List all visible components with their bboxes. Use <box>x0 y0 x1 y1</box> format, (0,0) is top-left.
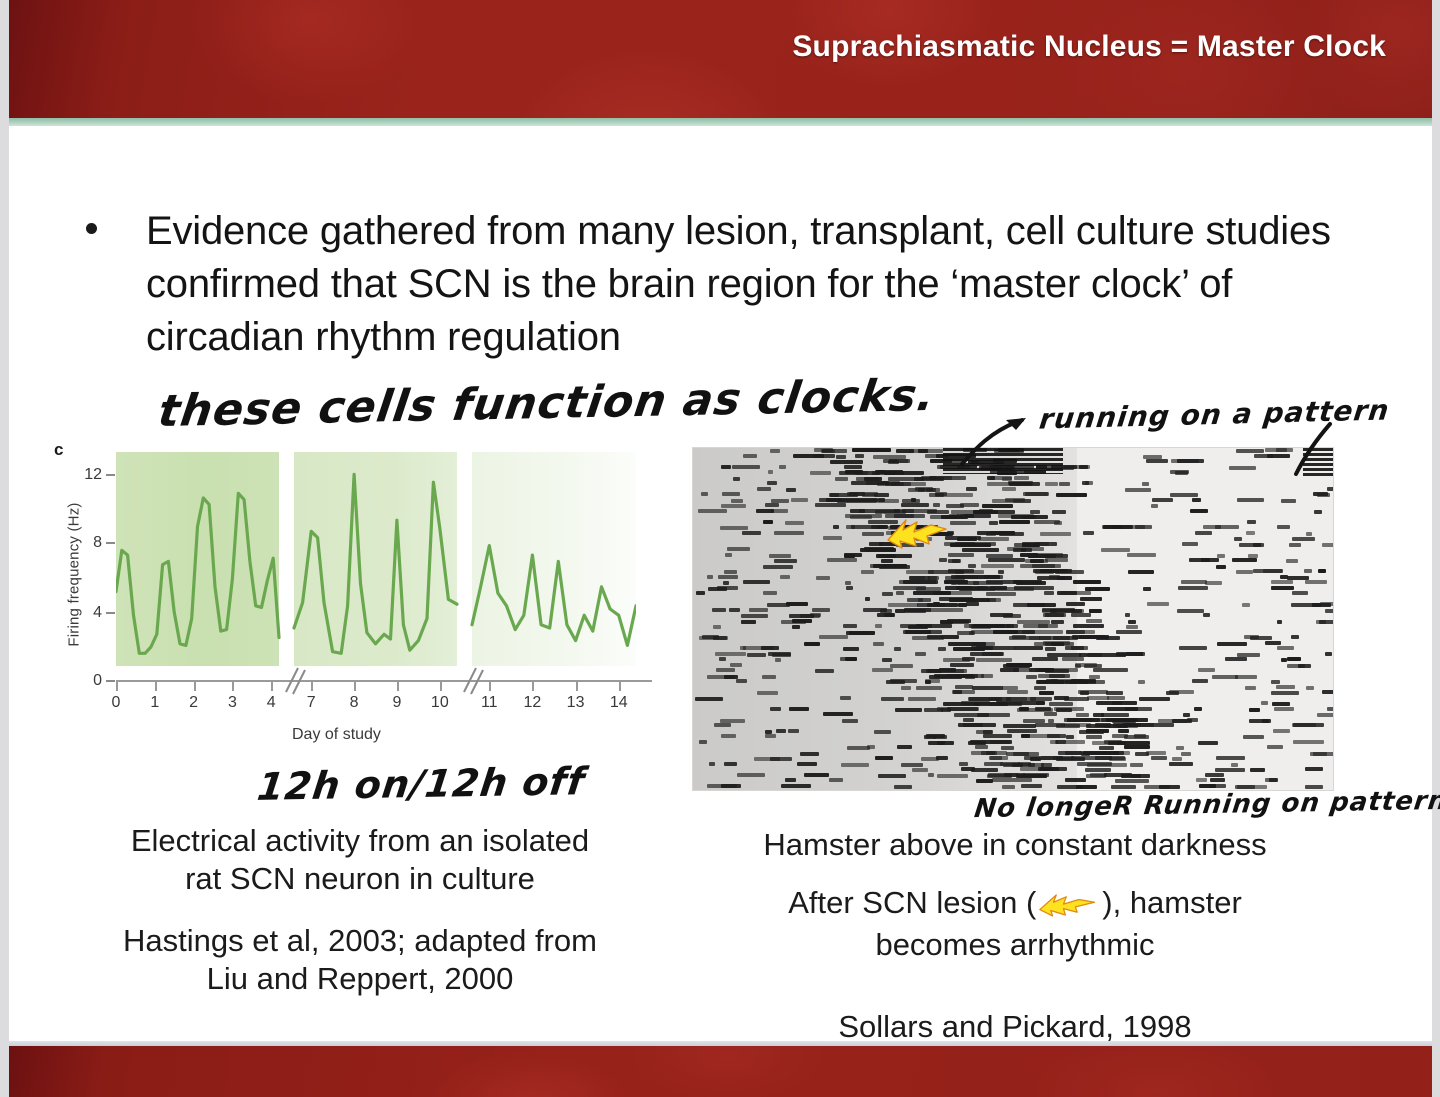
actogram-activity-mark <box>875 624 882 628</box>
actogram-activity-mark <box>1318 569 1326 573</box>
actogram-activity-mark <box>1292 537 1315 541</box>
actogram-row <box>693 762 1333 767</box>
header-divider <box>9 118 1432 126</box>
actogram-row <box>693 751 1333 756</box>
actogram-activity-mark <box>958 723 996 727</box>
actogram-activity-mark <box>779 465 786 469</box>
actogram-activity-mark <box>1021 734 1030 738</box>
x-tick-label-7: 7 <box>299 694 323 712</box>
actogram-activity-mark <box>869 542 883 546</box>
actogram-activity-mark <box>724 762 737 766</box>
actogram-activity-mark <box>1042 554 1050 558</box>
actogram-activity-mark <box>947 619 971 623</box>
actogram-activity-mark <box>1064 465 1090 469</box>
actogram-activity-mark <box>1071 613 1091 617</box>
bullet-list: Evidence gathered from many lesion, tran… <box>86 205 1366 364</box>
actogram-activity-mark <box>1261 701 1268 705</box>
actogram-activity-mark <box>948 569 974 573</box>
actogram-activity-mark <box>958 603 967 607</box>
actogram-activity-mark <box>1045 669 1069 673</box>
actogram-activity-mark <box>908 697 936 701</box>
actogram-activity-mark <box>1032 564 1061 568</box>
actogram-activity-mark <box>1235 785 1255 789</box>
slide-header: Suprachiasmatic Nucleus = Master Clock <box>9 0 1432 118</box>
actogram-row <box>693 613 1333 618</box>
actogram-activity-mark <box>1322 690 1334 694</box>
actogram-activity-mark <box>981 564 1014 568</box>
x-tick-label-2: 2 <box>182 694 206 712</box>
actogram-activity-mark <box>695 697 723 701</box>
x-tick-mark-11 <box>489 682 491 691</box>
actogram-activity-mark <box>1273 729 1290 733</box>
actogram-activity-mark <box>954 713 989 717</box>
actogram-activity-mark <box>1024 756 1052 760</box>
actogram-activity-mark <box>1317 713 1334 717</box>
actogram-activity-mark <box>948 559 960 563</box>
actogram-activity-mark <box>902 499 920 503</box>
actogram-activity-mark <box>992 778 1032 782</box>
actogram-activity-mark <box>927 635 942 639</box>
actogram-activity-mark <box>1310 752 1334 756</box>
actogram-activity-mark <box>1172 757 1182 761</box>
actogram-activity-mark <box>1209 784 1226 788</box>
x-tick-mark-12 <box>532 682 534 691</box>
actogram-row <box>693 635 1333 640</box>
actogram-activity-mark <box>1099 746 1114 750</box>
actogram-activity-mark <box>1237 498 1264 502</box>
actogram-activity-mark <box>1047 653 1081 657</box>
actogram-activity-mark <box>1111 785 1136 789</box>
actogram-activity-mark <box>1045 482 1058 486</box>
actogram-activity-mark <box>1146 459 1168 463</box>
actogram-activity-mark <box>819 635 848 639</box>
page-edge-left <box>0 0 9 1097</box>
actogram-activity-mark <box>1023 719 1045 723</box>
actogram-activity-mark <box>1000 762 1020 766</box>
actogram-row <box>693 685 1333 690</box>
actogram-activity-mark <box>1006 624 1018 628</box>
actogram-activity-mark <box>872 668 893 672</box>
actogram-activity-mark <box>770 449 780 453</box>
actogram-activity-mark <box>968 564 976 568</box>
actogram-activity-mark <box>829 778 843 782</box>
chart-plot-area <box>116 452 636 680</box>
actogram-activity-mark <box>929 493 944 497</box>
actogram-activity-mark <box>1236 449 1264 453</box>
actogram-activity-mark <box>1085 587 1110 591</box>
actogram-activity-mark <box>813 454 835 458</box>
actogram-activity-mark <box>890 664 913 668</box>
actogram-activity-mark <box>941 635 959 639</box>
actogram-activity-mark <box>865 597 870 601</box>
bullet-dot-icon <box>86 223 97 234</box>
actogram-activity-mark <box>720 719 745 723</box>
actogram-activity-mark <box>897 745 912 749</box>
actogram-activity-mark <box>1040 532 1071 536</box>
actogram-activity-mark <box>1293 740 1324 744</box>
actogram-activity-mark <box>1234 537 1242 541</box>
actogram-activity-mark <box>1030 559 1044 563</box>
actogram-activity-mark <box>984 575 1000 579</box>
actogram-activity-mark <box>707 675 735 679</box>
actogram-activity-mark <box>1281 499 1296 503</box>
actogram-activity-mark <box>1281 658 1287 662</box>
actogram-activity-mark <box>971 768 998 772</box>
actogram-activity-mark <box>907 598 931 602</box>
actogram-activity-mark <box>1231 763 1238 767</box>
actogram-activity-mark <box>901 503 929 507</box>
actogram-activity-mark <box>1151 504 1158 508</box>
actogram-row <box>693 767 1333 772</box>
actogram-activity-mark <box>1181 752 1191 756</box>
actogram-row <box>693 531 1333 536</box>
actogram-row <box>693 525 1333 530</box>
actogram-activity-mark <box>1210 778 1225 782</box>
actogram-activity-mark <box>1018 762 1031 766</box>
actogram-activity-mark <box>933 602 940 606</box>
actogram-activity-mark <box>815 669 834 673</box>
actogram-activity-mark <box>1047 734 1066 738</box>
actogram-activity-mark <box>1305 580 1327 584</box>
actogram-activity-mark <box>780 575 790 579</box>
actogram-activity-mark <box>905 630 931 634</box>
actogram-activity-mark <box>1057 591 1077 595</box>
actogram-activity-mark <box>882 592 893 596</box>
actogram-activity-mark <box>855 471 868 475</box>
actogram-activity-mark <box>878 554 896 558</box>
actogram-activity-mark <box>955 685 973 689</box>
actogram-activity-mark <box>792 625 800 629</box>
actogram-activity-mark <box>789 707 809 711</box>
actogram-activity-mark <box>714 723 731 727</box>
actogram-activity-mark <box>1014 646 1043 650</box>
actogram-activity-mark <box>1033 569 1072 573</box>
actogram-activity-mark <box>821 449 835 453</box>
actogram-row <box>693 778 1333 783</box>
right-caption-arrhythmic: becomes arrhythmic Sollars and Pickard, … <box>690 968 1340 1046</box>
actogram-activity-mark <box>1076 713 1089 717</box>
actogram-activity-mark <box>851 525 878 529</box>
actogram-activity-mark <box>976 658 1012 662</box>
actogram-activity-mark <box>1249 708 1260 712</box>
actogram-activity-mark <box>1325 609 1334 613</box>
actogram-activity-mark <box>1263 569 1282 573</box>
x-tick-label-10: 10 <box>428 694 452 712</box>
actogram-activity-mark <box>1077 762 1112 766</box>
actogram-activity-mark <box>1066 630 1085 634</box>
actogram-row <box>693 740 1333 745</box>
actogram-activity-mark <box>1125 488 1151 492</box>
x-tick-label-1: 1 <box>143 694 167 712</box>
actogram-activity-mark <box>1286 559 1298 563</box>
actogram-activity-mark <box>916 686 942 690</box>
x-tick-label-4: 4 <box>259 694 283 712</box>
actogram-activity-mark <box>716 668 735 672</box>
actogram-row <box>693 536 1333 541</box>
actogram-activity-mark <box>1196 778 1207 782</box>
actogram-activity-mark <box>1244 635 1259 639</box>
actogram-activity-mark <box>1065 680 1096 684</box>
handwriting-running-on-pattern: running on a pattern <box>1038 393 1392 435</box>
actogram-row <box>693 718 1333 723</box>
actogram-activity-mark <box>1177 609 1204 613</box>
x-tick-mark-1 <box>155 682 157 691</box>
actogram-activity-mark <box>1023 773 1049 777</box>
actogram-activity-mark <box>1293 723 1324 727</box>
actogram-activity-mark <box>845 581 851 585</box>
actogram-row <box>693 657 1333 662</box>
actogram-activity-mark <box>1192 679 1208 683</box>
actogram-activity-mark <box>937 774 968 778</box>
actogram-activity-mark <box>747 653 766 657</box>
chart-series-lines <box>116 452 636 680</box>
actogram-activity-mark <box>1312 603 1331 607</box>
actogram-row <box>693 630 1333 635</box>
actogram-activity-mark <box>1143 455 1162 459</box>
actogram-activity-mark <box>986 554 1013 558</box>
actogram-activity-mark <box>1038 624 1048 628</box>
actogram-activity-mark <box>874 493 889 497</box>
actogram-activity-mark <box>1102 525 1116 529</box>
actogram-row <box>693 564 1333 569</box>
actogram-activity-mark <box>723 581 729 585</box>
actogram-activity-mark <box>1317 493 1330 497</box>
actogram-activity-mark <box>1087 696 1109 700</box>
actogram-activity-mark <box>1007 690 1028 694</box>
actogram-activity-mark <box>1039 636 1070 640</box>
actogram-activity-mark <box>743 454 757 458</box>
actogram-activity-mark <box>731 499 743 503</box>
actogram-activity-mark <box>1126 625 1138 629</box>
actogram-activity-mark <box>1082 481 1089 485</box>
y-tick-label-12: 12 <box>60 466 102 484</box>
actogram-activity-mark <box>990 740 1010 744</box>
actogram-activity-mark <box>921 476 936 480</box>
actogram-activity-mark <box>1083 531 1094 535</box>
actogram-activity-mark <box>915 652 926 656</box>
right-caption-lesion-after: ), hamster <box>1102 885 1242 920</box>
actogram-activity-mark <box>1006 752 1029 756</box>
actogram-activity-mark <box>948 553 974 557</box>
actogram-activity-mark <box>1215 768 1245 772</box>
actogram-activity-mark <box>743 580 770 584</box>
actogram-row <box>693 575 1333 580</box>
actogram-activity-mark <box>1142 482 1149 486</box>
actogram-activity-mark <box>1128 570 1154 574</box>
actogram-activity-mark <box>895 708 922 712</box>
actogram-activity-mark <box>928 773 934 777</box>
actogram-row <box>693 492 1333 497</box>
actogram-activity-mark <box>701 492 708 496</box>
actogram-activity-mark <box>961 767 975 771</box>
actogram-activity-mark <box>1249 719 1271 723</box>
actogram-activity-mark <box>962 657 975 661</box>
right-caption-lesion-before: After SCN lesion ( <box>788 885 1036 920</box>
actogram-activity-mark <box>893 586 926 590</box>
actogram-activity-mark <box>709 762 715 766</box>
actogram-activity-mark <box>770 707 781 711</box>
x-tick-mark-13 <box>576 682 578 691</box>
actogram-activity-mark <box>836 455 846 459</box>
actogram-activity-mark <box>1001 746 1014 750</box>
actogram-activity-mark <box>881 559 893 563</box>
actogram-activity-mark <box>1034 520 1060 524</box>
actogram-activity-mark <box>1013 580 1042 584</box>
actogram-activity-mark <box>1316 620 1326 624</box>
actogram-activity-mark <box>722 492 740 496</box>
actogram-activity-mark <box>797 762 817 766</box>
actogram-activity-mark <box>957 631 974 635</box>
actogram-activity-mark <box>769 554 791 558</box>
actogram-activity-mark <box>1171 459 1199 463</box>
slide: Suprachiasmatic Nucleus = Master Clock E… <box>0 0 1440 1097</box>
actogram-activity-mark <box>894 647 901 651</box>
actogram-activity-mark <box>1101 548 1130 552</box>
actogram-activity-mark <box>823 712 853 716</box>
actogram-row <box>693 619 1333 624</box>
actogram-activity-mark <box>1026 675 1037 679</box>
actogram-activity-mark <box>937 741 945 745</box>
actogram-activity-mark <box>730 663 742 667</box>
actogram-activity-mark <box>1066 602 1085 606</box>
actogram-row <box>693 558 1333 563</box>
actogram-activity-mark <box>1032 657 1058 661</box>
handwriting-no-longer-pattern: No longeR Running on pattern <box>973 786 1440 824</box>
actogram-activity-mark <box>1237 653 1260 657</box>
x-tick-mark-4 <box>271 682 273 691</box>
actogram-activity-mark <box>873 455 906 459</box>
actogram-activity-mark <box>925 679 940 683</box>
actogram-activity-mark <box>946 674 978 678</box>
actogram-activity-mark <box>1008 481 1033 485</box>
actogram-activity-mark <box>1106 691 1123 695</box>
actogram-activity-mark <box>1012 635 1026 639</box>
actogram-activity-mark <box>1044 591 1054 595</box>
actogram-activity-mark <box>1265 641 1281 645</box>
actogram-activity-mark <box>894 785 912 789</box>
actogram-activity-mark <box>988 773 1019 777</box>
actogram-activity-mark <box>1166 691 1179 695</box>
actogram-activity-mark <box>757 487 771 491</box>
actogram-activity-mark <box>736 679 747 683</box>
y-tick-label-4: 4 <box>68 604 102 622</box>
x-tick-mark-0 <box>116 682 118 691</box>
actogram-activity-mark <box>1036 701 1045 705</box>
actogram-activity-mark <box>830 460 863 464</box>
actogram-activity-mark <box>1269 778 1278 782</box>
actogram-activity-mark <box>960 503 979 507</box>
actogram-activity-mark <box>1013 603 1045 607</box>
actogram-activity-mark <box>763 520 773 524</box>
left-figure-citation: Hastings et al, 2003; adapted from Liu a… <box>40 922 680 998</box>
actogram-activity-mark <box>1127 553 1156 557</box>
actogram-activity-mark <box>874 730 891 734</box>
actogram-activity-mark <box>966 602 979 606</box>
actogram-activity-mark <box>707 784 737 788</box>
actogram-row <box>693 674 1333 679</box>
actogram-activity-mark <box>732 465 760 469</box>
x-tick-mark-3 <box>232 682 234 691</box>
actogram-activity-mark <box>1232 558 1257 562</box>
y-tick-mark-0 <box>106 680 115 682</box>
actogram-activity-mark <box>1079 730 1104 734</box>
actogram-activity-mark <box>1182 542 1198 546</box>
actogram-row <box>693 707 1333 712</box>
actogram-activity-mark <box>1093 713 1104 717</box>
actogram-activity-mark <box>1086 735 1102 739</box>
actogram-activity-mark <box>770 757 792 761</box>
actogram-activity-mark <box>1013 499 1031 503</box>
actogram-activity-mark <box>1002 686 1018 690</box>
actogram-activity-mark <box>843 624 857 628</box>
actogram-activity-mark <box>949 598 990 602</box>
actogram-activity-mark <box>1216 756 1245 760</box>
left-caption-line-1: Electrical activity from an isolated <box>40 822 680 860</box>
left-figure-caption: Electrical activity from an isolated rat… <box>40 822 680 898</box>
actogram-activity-mark <box>840 696 851 700</box>
chart-x-axis-label: Day of study <box>292 726 381 744</box>
actogram-activity-mark <box>928 576 937 580</box>
actogram-activity-mark <box>1002 487 1016 491</box>
actogram-activity-mark <box>781 620 806 624</box>
x-tick-label-13: 13 <box>564 694 588 712</box>
actogram-activity-mark <box>957 537 970 541</box>
actogram-activity-mark <box>1327 707 1334 711</box>
actogram-activity-mark <box>938 647 946 651</box>
actogram-activity-mark <box>1052 510 1066 514</box>
actogram-activity-mark <box>912 768 928 772</box>
actogram-activity-mark <box>1071 609 1084 613</box>
actogram-activity-mark <box>815 503 846 507</box>
actogram-activity-mark <box>785 778 796 782</box>
axis-break-icon-1 <box>282 666 306 696</box>
actogram-activity-mark <box>1203 613 1210 617</box>
actogram-activity-mark <box>812 608 830 612</box>
actogram-activity-mark <box>1037 576 1065 580</box>
actogram-activity-mark <box>763 591 777 595</box>
actogram-activity-mark <box>867 745 875 749</box>
actogram-activity-mark <box>765 503 779 507</box>
actogram-dense-cluster <box>1303 448 1334 478</box>
page-title: Suprachiasmatic Nucleus = Master Clock <box>792 30 1386 64</box>
left-citation-line-1: Hastings et al, 2003; adapted from <box>40 922 680 960</box>
actogram-activity-mark <box>1014 476 1029 480</box>
actogram-activity-mark <box>901 686 911 690</box>
actogram-activity-mark <box>1073 580 1101 584</box>
actogram-activity-mark <box>1276 685 1295 689</box>
actogram-activity-mark <box>945 576 965 580</box>
actogram-activity-mark <box>1322 543 1334 547</box>
actogram-activity-mark <box>823 536 842 540</box>
actogram-activity-mark <box>1029 636 1040 640</box>
x-tick-label-12: 12 <box>520 694 544 712</box>
actogram-activity-mark <box>837 499 877 503</box>
actogram-row <box>693 509 1333 514</box>
actogram-activity-mark <box>915 487 933 491</box>
actogram-activity-mark <box>741 614 768 618</box>
x-tick-label-8: 8 <box>342 694 366 712</box>
actogram-activity-mark <box>725 553 732 557</box>
actogram-activity-mark <box>846 586 853 590</box>
actogram-activity-mark <box>1304 569 1312 573</box>
actogram-activity-mark <box>1045 613 1064 617</box>
actogram-activity-mark <box>827 558 857 562</box>
actogram-activity-mark <box>1007 729 1037 733</box>
x-tick-mark-9 <box>397 682 399 691</box>
actogram-activity-mark <box>1121 774 1150 778</box>
actogram-activity-mark <box>999 520 1030 524</box>
actogram-activity-mark <box>1045 647 1056 651</box>
